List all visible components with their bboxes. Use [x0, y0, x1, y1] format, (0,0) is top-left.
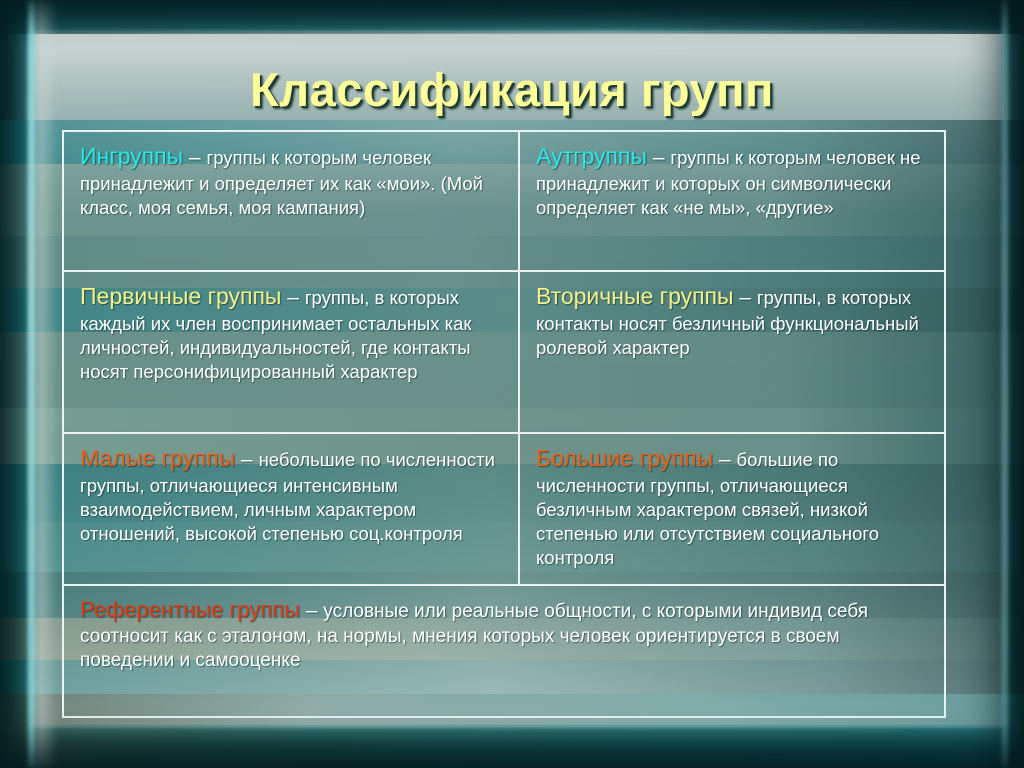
slide-canvas: Классификация групп Ингруппы – группы к …	[0, 0, 1024, 768]
term-dash: –	[647, 146, 670, 169]
classification-table: Ингруппы – группы к которым человек прин…	[62, 130, 946, 718]
term-dash: –	[734, 286, 757, 309]
table-row: Референтные группы – условные или реальн…	[64, 584, 944, 712]
table-row: Малые группы – небольшие по численности …	[64, 432, 944, 584]
term-label: Вторичные группы	[536, 283, 734, 309]
term-label: Референтные группы	[80, 597, 300, 622]
table-cell-large-groups: Большие группы – большие по численности …	[520, 434, 944, 584]
term-label: Ингруппы	[80, 143, 183, 169]
term-dash: –	[235, 448, 258, 471]
table-cell-ingroups: Ингруппы – группы к которым человек прин…	[64, 132, 520, 270]
table-cell-reference-groups: Референтные группы – условные или реальн…	[64, 586, 944, 712]
term-label: Первичные группы	[80, 283, 281, 309]
table-cell-primary-groups: Первичные группы – группы, в которых каж…	[64, 272, 520, 432]
band	[0, 0, 1024, 34]
table-cell-secondary-groups: Вторичные группы – группы, в которых кон…	[520, 272, 944, 432]
page-title: Классификация групп	[0, 62, 1024, 117]
term-dash: –	[713, 448, 736, 471]
table-cell-outgroups: Аутгруппы – группы к которым человек не …	[520, 132, 944, 270]
term-dash: –	[183, 146, 206, 169]
term-label: Малые группы	[80, 445, 235, 471]
term-label: Большие группы	[536, 445, 713, 471]
table-row: Ингруппы – группы к которым человек прин…	[64, 132, 944, 270]
term-label: Аутгруппы	[536, 143, 647, 169]
term-dash: –	[300, 599, 323, 622]
table-cell-small-groups: Малые группы – небольшие по численности …	[64, 434, 520, 584]
table-row: Первичные группы – группы, в которых каж…	[64, 270, 944, 432]
term-dash: –	[281, 286, 304, 309]
